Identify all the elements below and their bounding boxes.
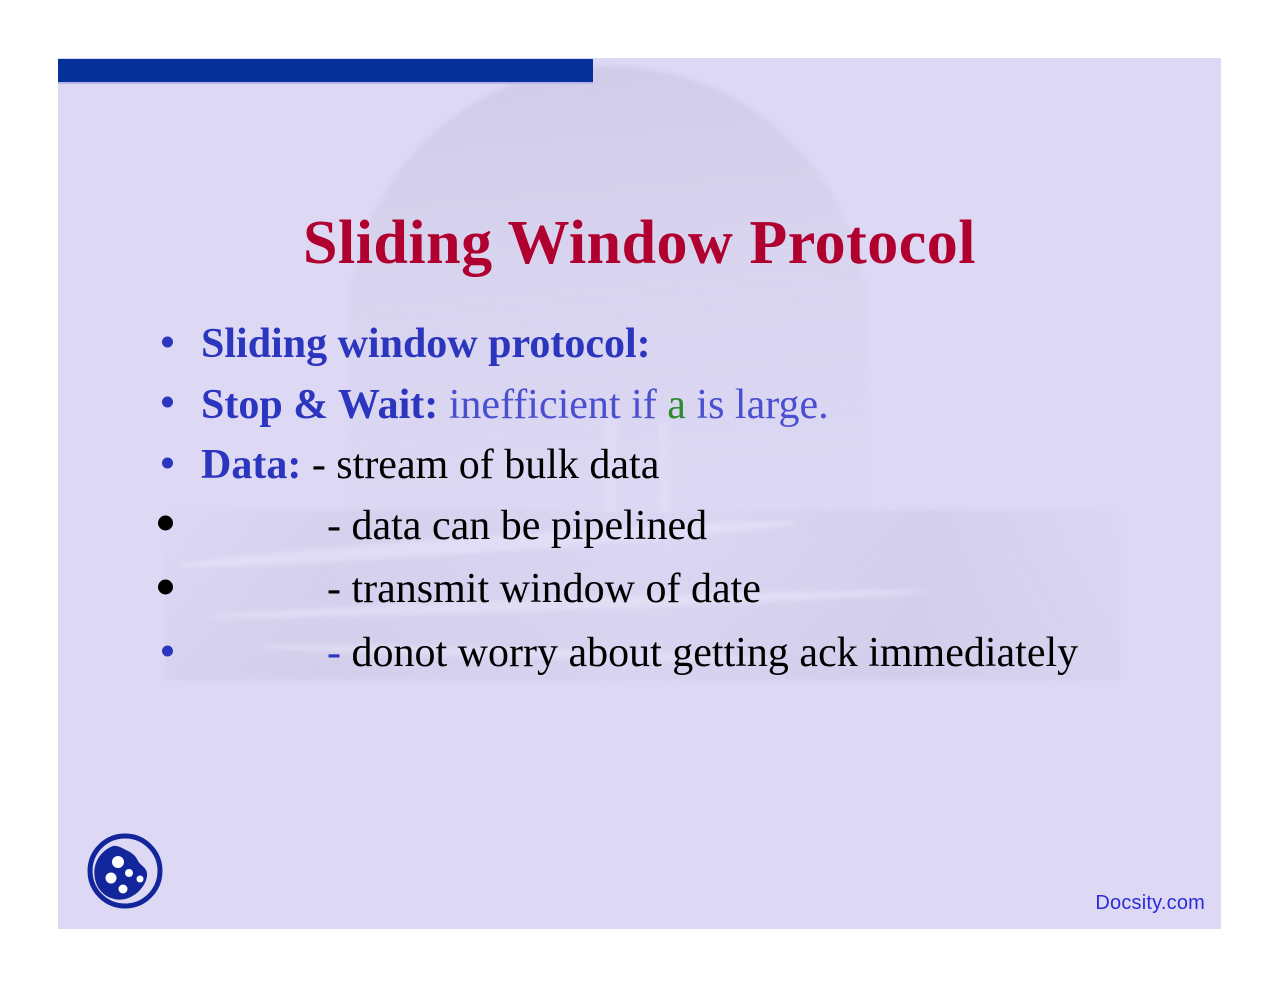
list-item-text: Data: - stream of bulk data (201, 442, 659, 488)
bullet-dot-icon (162, 645, 173, 656)
slide-canvas: Sliding Window Protocol Sliding window p… (58, 58, 1221, 929)
header-accent-bar (58, 59, 593, 84)
text-segment: - stream of bulk data (301, 442, 659, 488)
bullet-list: Sliding window protocol: Stop & Wait: in… (153, 320, 1203, 687)
text-segment: - data can be pipelined (327, 503, 707, 549)
bullet-dot-icon (162, 457, 173, 468)
text-segment: Stop & Wait: (201, 382, 438, 428)
list-item: Sliding window protocol: (153, 320, 1203, 370)
text-segment: inefficient if (438, 382, 667, 428)
list-item-text: - data can be pipelined (201, 503, 707, 549)
bullet-dot-icon (158, 516, 173, 531)
list-item: - transmit window of date (153, 565, 1203, 615)
bullet-dot-icon (158, 580, 173, 595)
list-item-text: Stop & Wait: inefficient if a is large. (201, 382, 829, 428)
page-title: Sliding Window Protocol (58, 212, 1221, 274)
list-item: Stop & Wait: inefficient if a is large. (153, 381, 1203, 431)
text-segment-dash: - (327, 630, 352, 676)
bullet-dot-icon (162, 397, 173, 408)
text-segment: Sliding window protocol: (201, 321, 651, 367)
list-item: - data can be pipelined (153, 502, 1203, 552)
text-segment: - transmit window of date (327, 566, 761, 612)
list-item-text: - transmit window of date (201, 566, 761, 612)
text-segment: Data: (201, 442, 301, 488)
text-segment-variable-a: a (667, 382, 686, 428)
docsity-cookie-logo-icon (80, 829, 170, 913)
text-segment: is large. (686, 382, 829, 428)
list-item-text: Sliding window protocol: (201, 321, 651, 367)
text-segment: donot worry about getting ack immediatel… (352, 630, 1079, 676)
docsity-watermark-label: Docsity.com (1095, 892, 1205, 915)
list-item: Data: - stream of bulk data (153, 441, 1203, 491)
list-item: - donot worry about getting ack immediat… (153, 629, 1203, 679)
list-item-text: - donot worry about getting ack immediat… (201, 630, 1078, 676)
bullet-dot-icon (162, 336, 173, 347)
